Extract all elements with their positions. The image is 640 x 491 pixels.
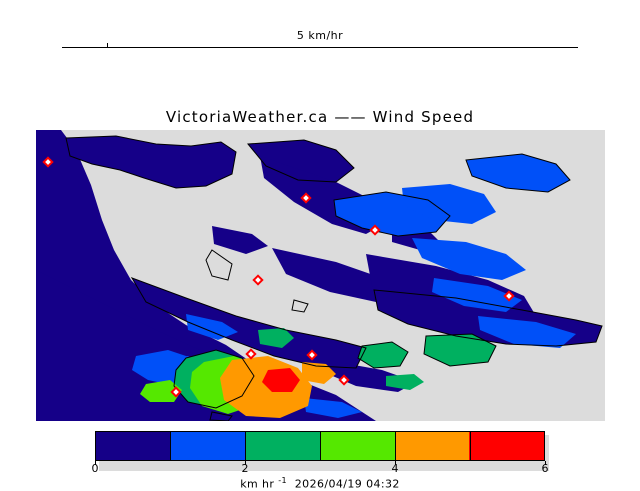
colorbar-tick-label: 2 bbox=[242, 463, 249, 475]
colorbar-tick-label: 0 bbox=[92, 463, 99, 475]
colorbar-band-2 bbox=[245, 432, 320, 460]
page-title: VictoriaWeather.ca —— Wind Speed bbox=[0, 108, 640, 126]
units-exponent: -1 bbox=[278, 476, 287, 485]
wind-barb-scale: 5 km/hr bbox=[0, 30, 640, 60]
wind-barb-scale-label: 5 km/hr bbox=[0, 30, 640, 42]
colorbar-band-3 bbox=[320, 432, 395, 460]
wind-barb-scale-tick bbox=[107, 43, 108, 48]
colorbar-tick-label: 4 bbox=[392, 463, 399, 475]
colorbar-separator bbox=[395, 431, 396, 461]
colorbar-band-4 bbox=[395, 432, 470, 460]
wind-speed-map[interactable] bbox=[36, 130, 605, 421]
colorbar-legend: km hr -1 2026/04/19 04:32 0246 bbox=[0, 425, 640, 480]
colorbar-caption: km hr -1 2026/04/19 04:32 bbox=[0, 476, 640, 491]
colorbar-band-5 bbox=[469, 432, 544, 460]
colorbar-separator bbox=[245, 431, 246, 461]
colorbar-band-1 bbox=[171, 432, 246, 460]
wind-barb-scale-line bbox=[62, 47, 578, 48]
colorbar-band-0 bbox=[96, 432, 171, 460]
colorbar-tick-label: 6 bbox=[542, 463, 549, 475]
colorbar-separator bbox=[320, 431, 321, 461]
colorbar-separator bbox=[470, 431, 471, 461]
map-canvas[interactable] bbox=[36, 130, 605, 421]
colorbar-separator bbox=[170, 431, 171, 461]
